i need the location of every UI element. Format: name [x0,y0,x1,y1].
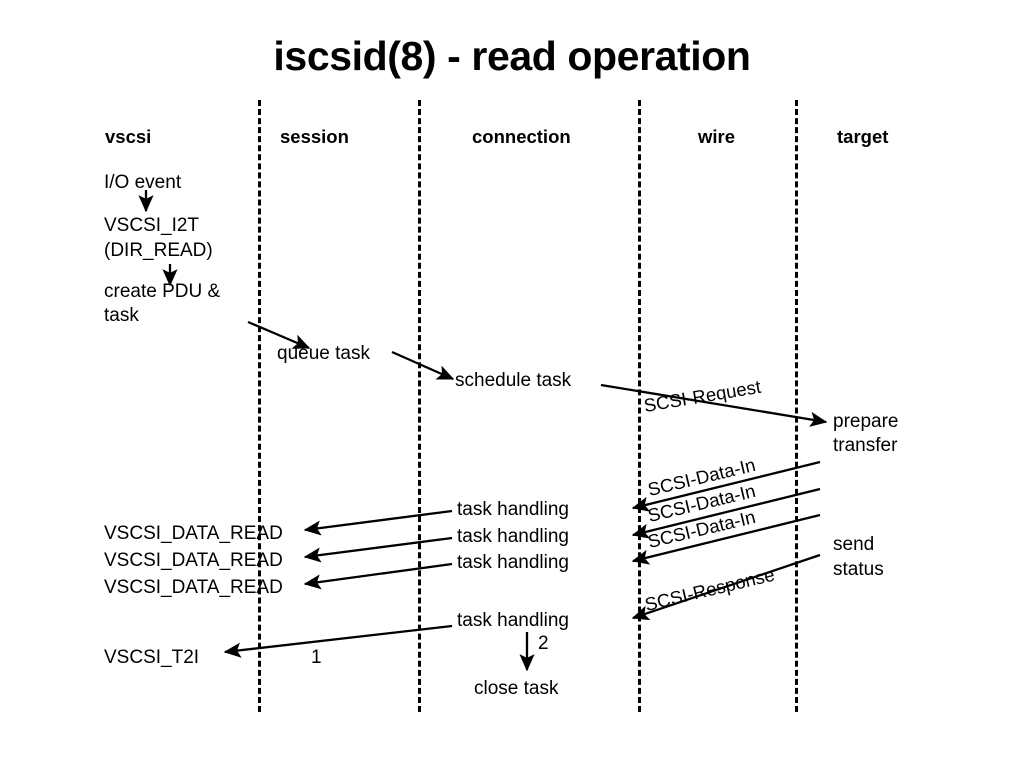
lifeline-wire [638,100,641,712]
label-scsi-request: SCSI-Request [642,374,763,418]
label-task-handling-3: task handling [457,550,569,575]
label-vscsi-data-read-2: VSCSI_DATA_READ [104,548,283,573]
label-task-handling-4: task handling [457,608,569,633]
arrow-queue-task-to-schedule-task [392,352,453,379]
label-queue-task: queue task [277,341,370,366]
label-step-two: 2 [538,631,549,656]
label-schedule-task: schedule task [455,368,571,393]
label-step-one: 1 [311,645,322,670]
label-prepare: prepare [833,409,899,434]
column-header-connection: connection [472,126,571,148]
arrow-task-handling-to-vscsi-data-read-1 [305,511,452,530]
arrow-task-handling-to-vscsi-data-read-3 [305,564,452,584]
label-close-task: close task [474,676,558,701]
label-dir-read: (DIR_READ) [104,238,213,263]
lifeline-target [795,100,798,712]
lifeline-connection [418,100,421,712]
column-header-wire: wire [698,126,735,148]
label-vscsi-i2t: VSCSI_I2T [104,213,199,238]
label-task-handling-2: task handling [457,524,569,549]
column-header-target: target [837,126,888,148]
column-header-vscsi: vscsi [105,126,151,148]
label-create-pdu: create PDU & [104,279,220,304]
label-send: send [833,532,874,557]
label-task-handling-1: task handling [457,497,569,522]
column-header-session: session [280,126,349,148]
label-transfer: transfer [833,433,897,458]
label-io-event: I/O event [104,170,181,195]
page-title: iscsid(8) - read operation [0,33,1024,80]
label-create-pdu-task: task [104,303,139,328]
label-vscsi-data-read-1: VSCSI_DATA_READ [104,521,283,546]
arrow-task-handling-to-vscsi-data-read-2 [305,538,452,557]
label-vscsi-data-read-3: VSCSI_DATA_READ [104,575,283,600]
label-scsi-response: SCSI-Response [642,562,777,617]
label-status: status [833,557,884,582]
slide-canvas: iscsid(8) - read operation vscsi session… [0,0,1024,768]
label-vscsi-t2i: VSCSI_T2I [104,645,199,670]
lifeline-session [258,100,261,712]
